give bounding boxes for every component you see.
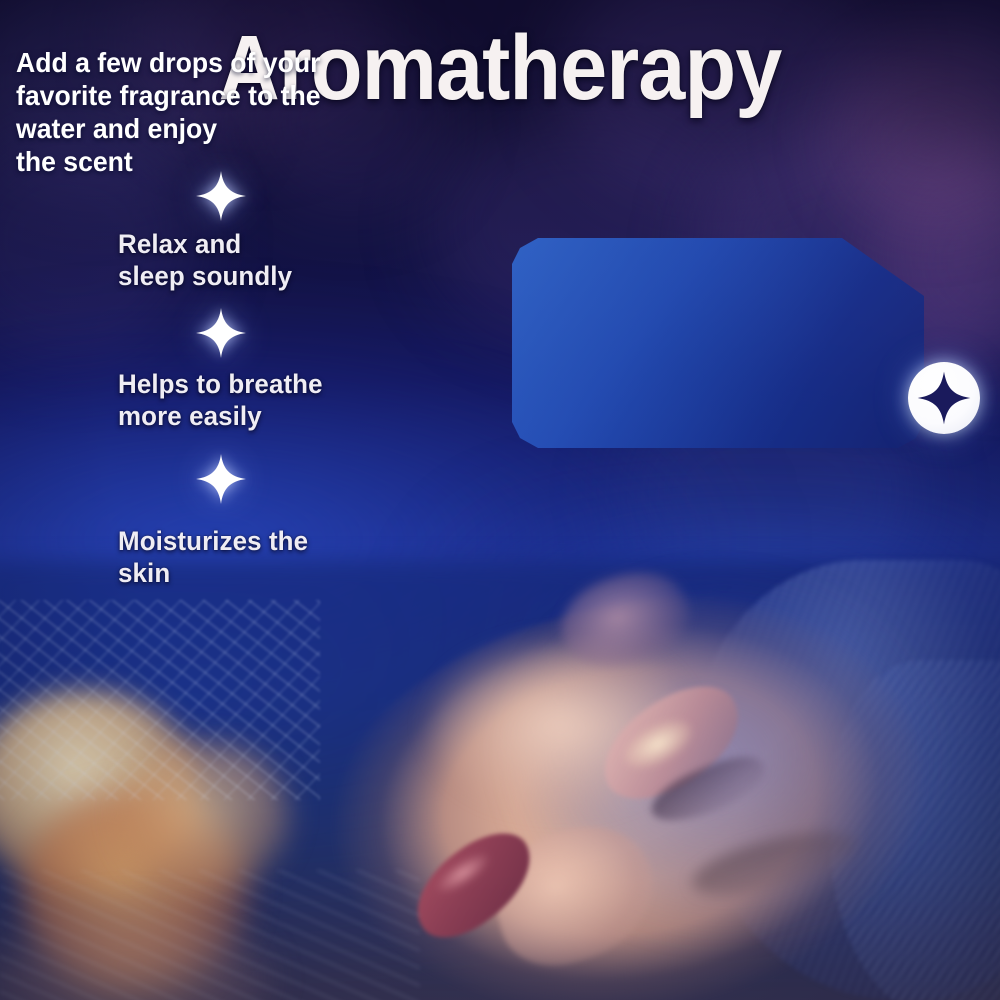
four-point-star-icon [916, 370, 972, 426]
four-point-star-icon [195, 307, 247, 359]
instruction-card-text: Add a few drops of your favorite fragran… [16, 46, 392, 178]
instruction-card [512, 238, 924, 448]
benefit-item-2: Helps to breathe more easily [118, 368, 323, 432]
aromatherapy-banner: Aromatherapy Relax and sleep soundly Hel… [0, 0, 1000, 1000]
content-layer: Aromatherapy Relax and sleep soundly Hel… [0, 0, 1000, 1000]
benefit-item-3: Moisturizes the skin [118, 525, 308, 589]
four-point-star-icon [195, 453, 247, 505]
star-badge [908, 362, 980, 434]
card-sheen [512, 238, 924, 448]
benefit-item-1: Relax and sleep soundly [118, 228, 292, 292]
